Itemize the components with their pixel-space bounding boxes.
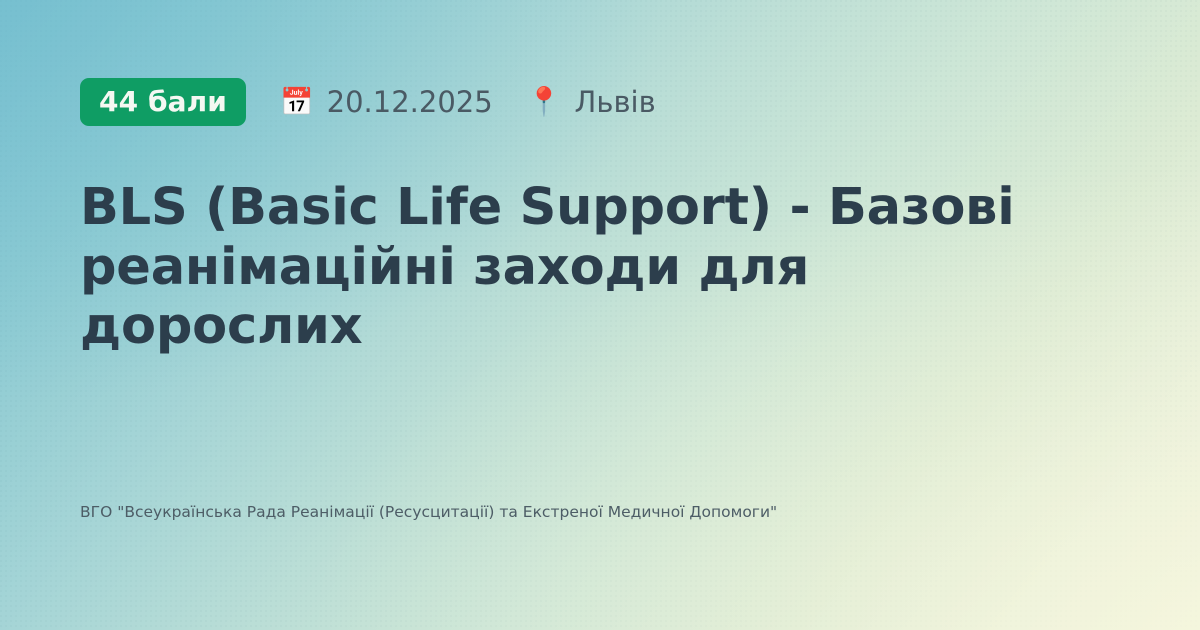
event-date-value: 20.12.2025 [327,88,493,117]
calendar-icon: 📅 [280,89,314,116]
event-location: 📍 Львів [527,88,656,117]
card-content: 44 бали 📅 20.12.2025 📍 Львів BLS (Basic … [80,78,1120,630]
event-card: 44 бали 📅 20.12.2025 📍 Львів BLS (Basic … [0,0,1200,630]
event-date: 📅 20.12.2025 [280,88,493,117]
location-pin-icon: 📍 [527,88,562,116]
page-title: BLS (Basic Life Support) - Базові реанім… [80,126,1080,357]
organizer-name: ВГО "Всеукраїнська Рада Реанімації (Ресу… [80,500,960,524]
meta-row: 44 бали 📅 20.12.2025 📍 Львів [80,78,1120,126]
event-location-value: Львів [575,88,656,117]
points-badge: 44 бали [80,78,246,126]
